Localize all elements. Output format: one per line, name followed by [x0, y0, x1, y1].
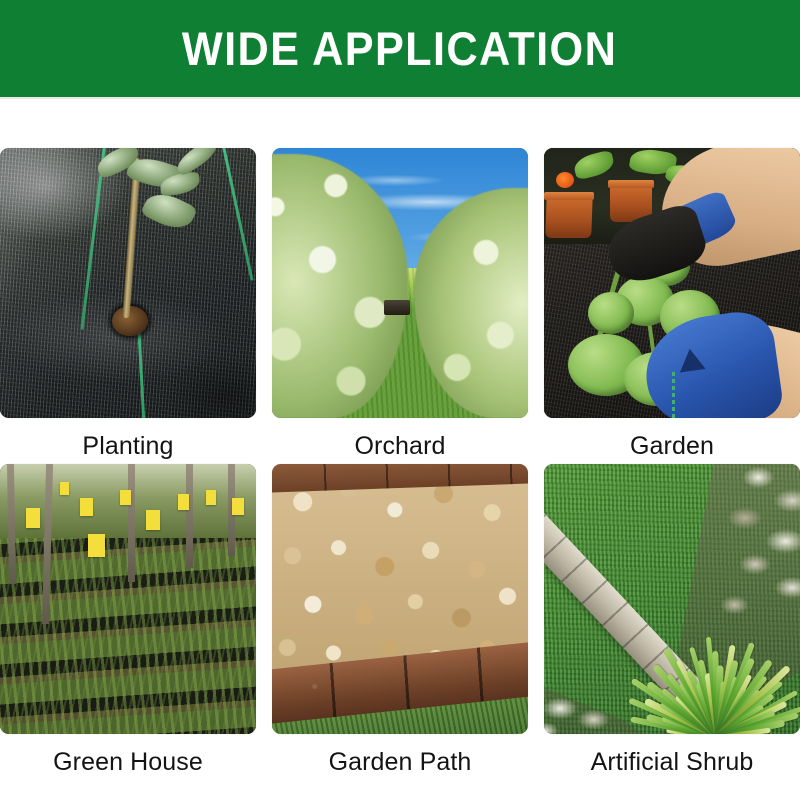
yellow-sticky-trap	[26, 508, 40, 528]
planting-hole	[112, 306, 148, 336]
fabric-guide-stripe	[672, 372, 675, 418]
caption-planting: Planting	[0, 418, 256, 461]
support-post	[128, 464, 135, 582]
yellow-sticky-trap	[206, 490, 216, 505]
pot-rim	[608, 180, 654, 188]
product-feature-page: WIDE APPLICATION	[0, 0, 800, 800]
caption-artificial-shrub: Artificial Shrub	[544, 734, 800, 777]
header-divider	[0, 97, 800, 99]
planting-photo[interactable]	[0, 148, 256, 418]
support-post	[186, 464, 193, 568]
yellow-sticky-trap	[232, 498, 244, 515]
page-title: WIDE APPLICATION	[182, 25, 617, 72]
pot-rim	[544, 192, 594, 200]
gallery-cell-garden-path[interactable]: Garden Path	[272, 464, 528, 777]
green-house-photo[interactable]	[0, 464, 256, 734]
caption-garden: Garden	[544, 418, 800, 461]
yellow-sticky-trap	[120, 490, 131, 505]
application-gallery: Planting Orchard	[0, 148, 800, 780]
garden-path-photo[interactable]	[272, 464, 528, 734]
artificial-shrub-photo[interactable]	[544, 464, 800, 734]
gallery-cell-orchard[interactable]: Orchard	[272, 148, 528, 461]
gallery-cell-planting[interactable]: Planting	[0, 148, 256, 461]
yellow-sticky-trap	[88, 534, 105, 557]
orange-flower	[556, 172, 574, 188]
header-banner: WIDE APPLICATION	[0, 0, 800, 97]
plant-leaf	[588, 292, 634, 334]
yellow-sticky-trap	[146, 510, 160, 530]
gallery-row: Planting Orchard	[0, 148, 800, 464]
orchard-photo[interactable]	[272, 148, 528, 418]
yellow-sticky-trap	[178, 494, 189, 510]
gallery-cell-green-house[interactable]: Green House	[0, 464, 256, 777]
caption-orchard: Orchard	[272, 418, 528, 461]
caption-green-house: Green House	[0, 734, 256, 777]
gallery-cell-artificial-shrub[interactable]: Artificial Shrub	[544, 464, 800, 777]
terracotta-pot	[545, 194, 593, 238]
gallery-row: Green House Garden Path	[0, 464, 800, 780]
orchard-vehicle	[384, 300, 410, 315]
yellow-sticky-trap	[60, 482, 69, 495]
gallery-cell-garden[interactable]: Garden	[544, 148, 800, 461]
spiky-shrub	[618, 560, 800, 734]
garden-photo[interactable]	[544, 148, 800, 418]
yellow-sticky-trap	[80, 498, 93, 516]
caption-garden-path: Garden Path	[272, 734, 528, 777]
